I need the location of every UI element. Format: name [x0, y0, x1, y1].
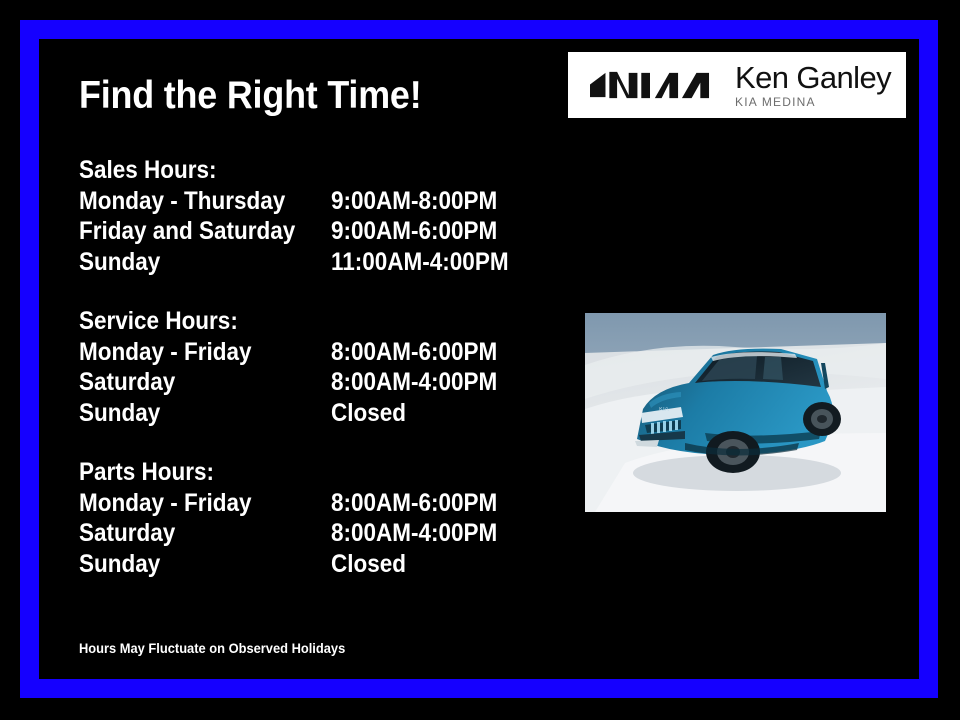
hours-row-time: 9:00AM-8:00PM	[331, 186, 497, 217]
hours-row-days: Sunday	[79, 398, 160, 429]
hours-slide: Find the Right Time! Sales Hours: Monday…	[0, 0, 960, 720]
kia-logo-icon	[587, 70, 713, 100]
hours-row: Monday - Friday 8:00AM-6:00PM	[79, 337, 549, 368]
parts-hours-block: Parts Hours: Monday - Friday 8:00AM-6:00…	[79, 457, 549, 579]
hours-row: Saturday 8:00AM-4:00PM	[79, 367, 549, 398]
hours-row-time: Closed	[331, 549, 406, 580]
hours-row: Saturday 8:00AM-4:00PM	[79, 518, 549, 549]
hours-row: Monday - Friday 8:00AM-6:00PM	[79, 488, 549, 519]
hours-row: Friday and Saturday 9:00AM-6:00PM	[79, 216, 549, 247]
svg-text:KIA: KIA	[659, 407, 669, 413]
dealer-name: Ken Ganley	[735, 62, 891, 94]
hours-row-days: Monday - Friday	[79, 488, 252, 519]
hours-row-days: Sunday	[79, 247, 160, 278]
dealer-location: KIA MEDINA	[735, 95, 891, 109]
hours-row: Sunday Closed	[79, 398, 549, 429]
hours-row: Sunday 11:00AM-4:00PM	[79, 247, 549, 278]
section-heading: Service Hours:	[79, 306, 502, 337]
slide-content: Find the Right Time! Sales Hours: Monday…	[0, 0, 960, 720]
page-title: Find the Right Time!	[79, 74, 421, 118]
hours-row-days: Monday - Friday	[79, 337, 252, 368]
hours-row-days: Friday and Saturday	[79, 216, 295, 247]
vehicle-photo: KIA	[585, 313, 886, 512]
dealer-logo-text: Ken Ganley KIA MEDINA	[735, 62, 891, 109]
hours-sections: Sales Hours: Monday - Thursday 9:00AM-8:…	[79, 155, 549, 579]
kia-ev9-illustration: KIA	[585, 313, 886, 512]
hours-row-time: 11:00AM-4:00PM	[331, 247, 509, 278]
hours-row-time: 8:00AM-6:00PM	[331, 488, 497, 519]
section-heading: Sales Hours:	[79, 155, 502, 186]
hours-row-days: Sunday	[79, 549, 160, 580]
sales-hours-block: Sales Hours: Monday - Thursday 9:00AM-8:…	[79, 155, 549, 277]
hours-row-time: 8:00AM-4:00PM	[331, 367, 497, 398]
hours-row-time: 8:00AM-4:00PM	[331, 518, 497, 549]
hours-row-days: Saturday	[79, 367, 175, 398]
hours-row-time: 9:00AM-6:00PM	[331, 216, 497, 247]
service-hours-block: Service Hours: Monday - Friday 8:00AM-6:…	[79, 306, 549, 428]
hours-row: Monday - Thursday 9:00AM-8:00PM	[79, 186, 549, 217]
hours-row: Sunday Closed	[79, 549, 549, 580]
dealer-logo: Ken Ganley KIA MEDINA	[568, 52, 906, 118]
hours-row-time: Closed	[331, 398, 406, 429]
hours-row-time: 8:00AM-6:00PM	[331, 337, 497, 368]
hours-row-days: Monday - Thursday	[79, 186, 285, 217]
section-heading: Parts Hours:	[79, 457, 502, 488]
holiday-disclaimer: Hours May Fluctuate on Observed Holidays	[79, 639, 345, 657]
hours-row-days: Saturday	[79, 518, 175, 549]
